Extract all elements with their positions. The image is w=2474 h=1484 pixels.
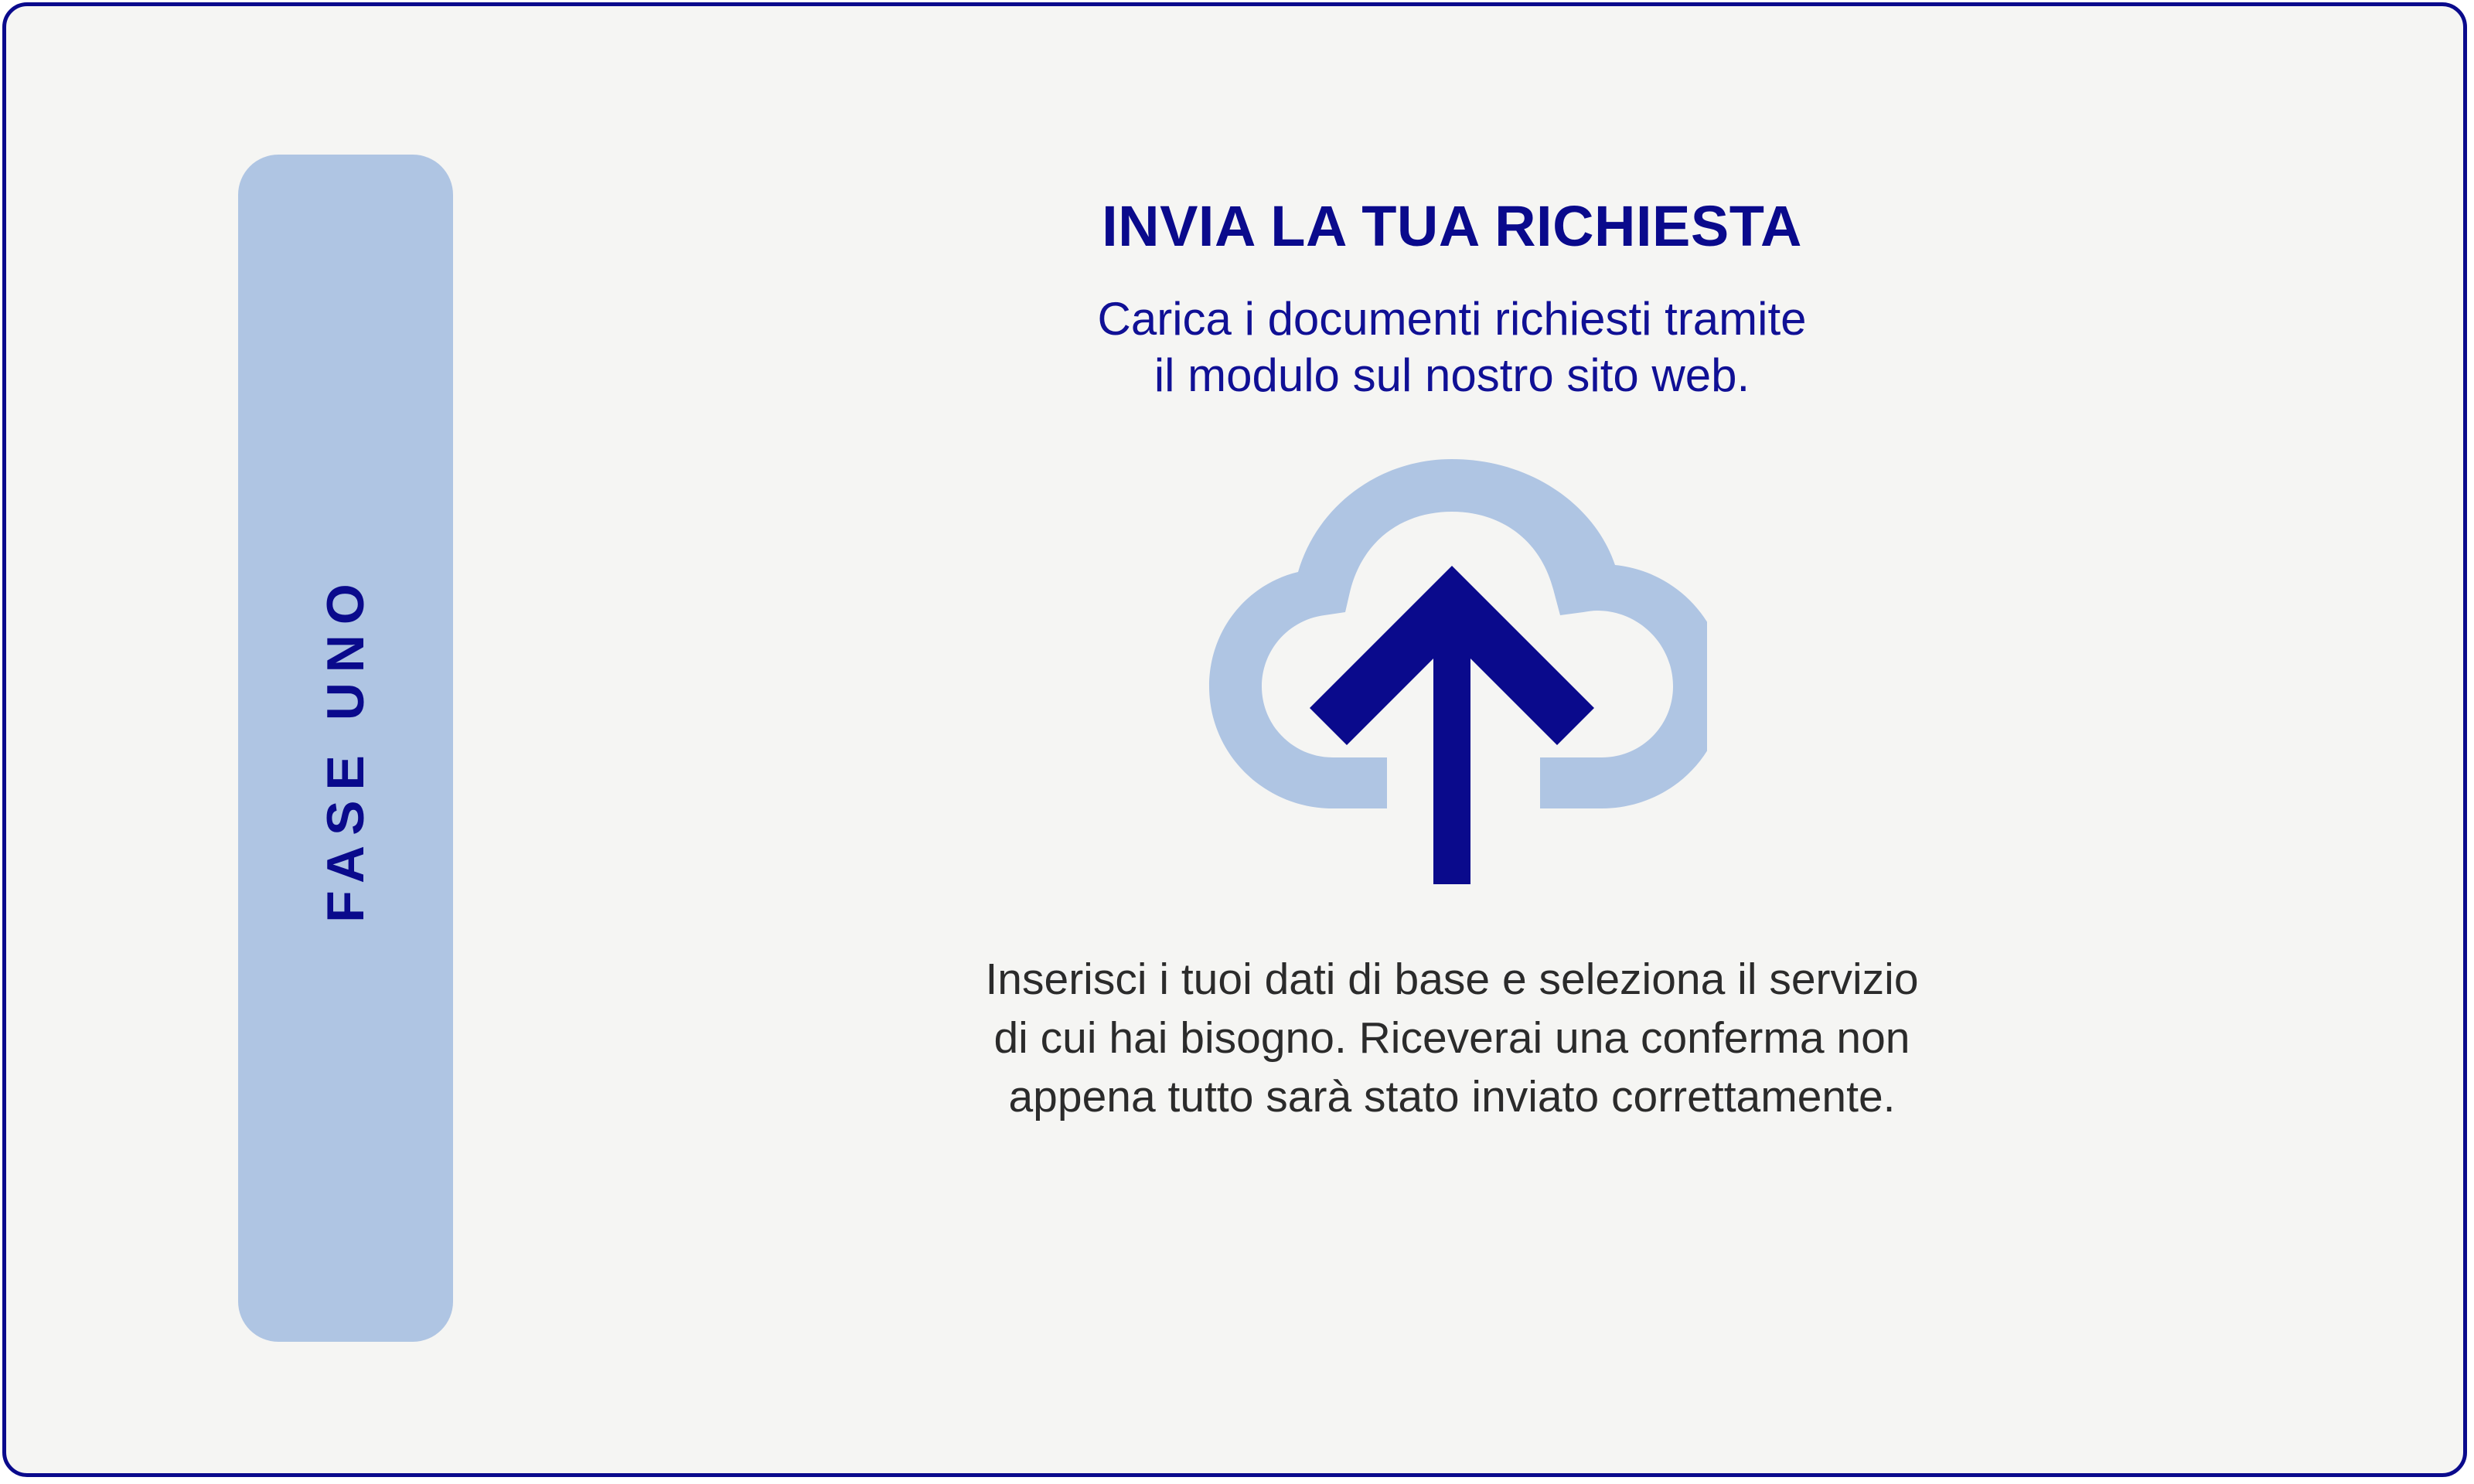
step-content: INVIA LA TUA RICHIESTA Carica i document… bbox=[486, 53, 2418, 1444]
cloud-upload-icon bbox=[1197, 451, 1707, 900]
step-description-line-3: appena tutto sarà stato inviato corretta… bbox=[985, 1068, 1918, 1127]
upload-arrow-shape bbox=[1310, 566, 1594, 884]
step-description-line-1: Inserisci i tuoi dati di base e selezion… bbox=[985, 951, 1918, 1009]
cloud-upload-icon-svg bbox=[1197, 451, 1707, 900]
phase-tab-label: FASE UNO bbox=[319, 574, 372, 923]
step-subtitle: Carica i documenti richiesti tramite il … bbox=[1098, 291, 1807, 403]
step-title: INVIA LA TUA RICHIESTA bbox=[1102, 198, 1802, 255]
step-subtitle-line-1: Carica i documenti richiesti tramite bbox=[1098, 293, 1807, 345]
step-subtitle-line-2: il modulo sul nostro sito web. bbox=[1154, 349, 1750, 401]
step-description-line-2: di cui hai bisogno. Riceverai una confer… bbox=[985, 1009, 1918, 1068]
step-card: FASE UNO INVIA LA TUA RICHIESTA Carica i… bbox=[2, 2, 2467, 1477]
step-description: Inserisci i tuoi dati di base e selezion… bbox=[985, 951, 1918, 1126]
phase-tab: FASE UNO bbox=[238, 155, 453, 1342]
screen: FASE UNO INVIA LA TUA RICHIESTA Carica i… bbox=[0, 0, 2474, 1484]
